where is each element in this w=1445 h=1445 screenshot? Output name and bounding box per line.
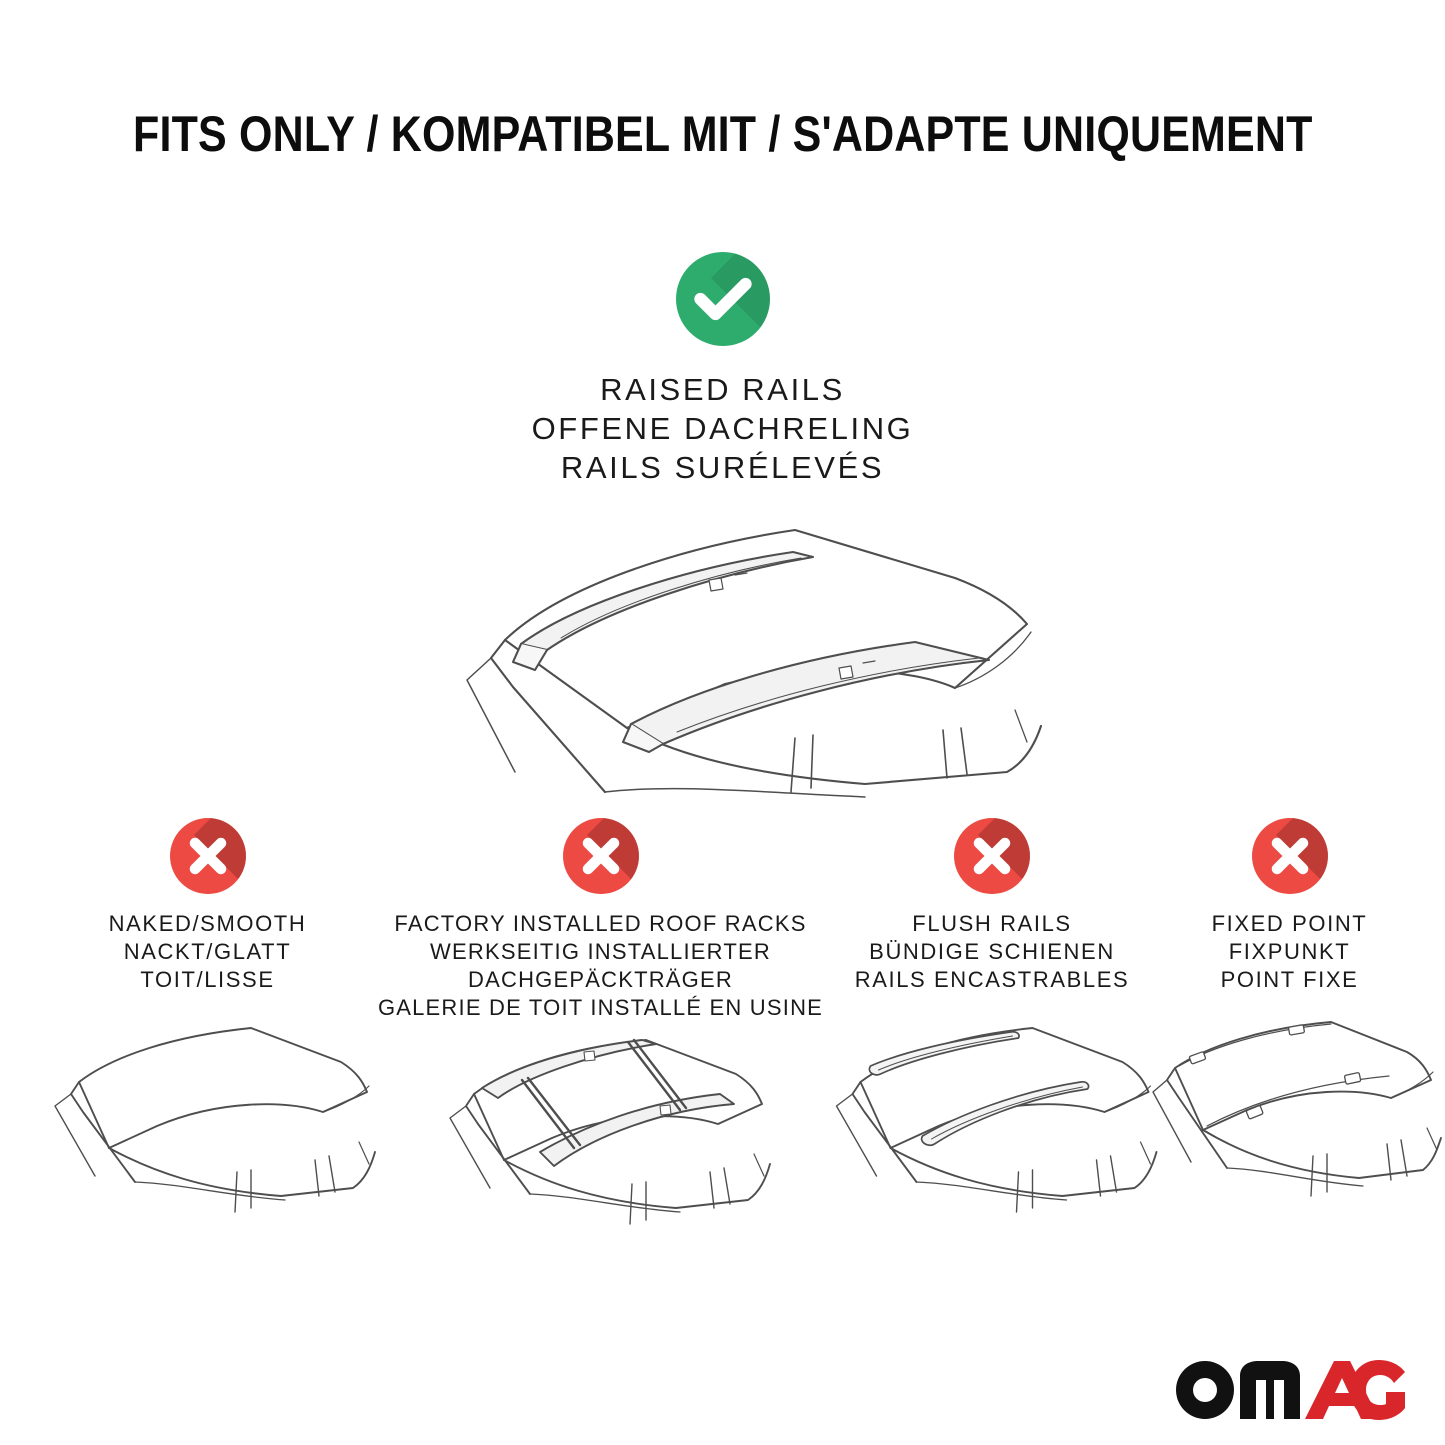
rejected-labels-flush-rails: FLUSH RAILS BÜNDIGE SCHIENEN RAILS ENCAS… bbox=[832, 910, 1152, 994]
rejected-column-flush-rails: FLUSH RAILS BÜNDIGE SCHIENEN RAILS ENCAS… bbox=[832, 818, 1152, 994]
x-circle-icon bbox=[1252, 818, 1328, 894]
x-circle-icon bbox=[170, 818, 246, 894]
car-roof-raised-rails-illustration bbox=[395, 492, 1055, 802]
label-de: BÜNDIGE SCHIENEN bbox=[832, 938, 1152, 966]
x-circle-icon bbox=[954, 818, 1030, 894]
rejected-column-naked-smooth: NAKED/SMOOTH NACKT/GLATT TOIT/LISSE bbox=[45, 818, 370, 994]
label-en: FLUSH RAILS bbox=[832, 910, 1152, 938]
car-roof-fixed-point-drawing bbox=[1135, 1000, 1445, 1225]
label-fr: TOIT/LISSE bbox=[45, 966, 370, 994]
car-roof-flush-rails-drawing bbox=[805, 1000, 1180, 1225]
x-mark-glyph bbox=[170, 818, 246, 894]
title-bar: FITS ONLY / KOMPATIBEL MIT / S'ADAPTE UN… bbox=[0, 104, 1445, 164]
car-roof-raised-rails-drawing bbox=[395, 492, 1055, 802]
x-mark-glyph bbox=[563, 818, 639, 894]
approved-labels: RAISED RAILS OFFENE DACHRELING RAILS SUR… bbox=[0, 370, 1445, 487]
label-de: FIXPUNKT bbox=[1152, 938, 1427, 966]
car-roof-naked-smooth-drawing bbox=[23, 1000, 393, 1225]
approved-label-en: RAISED RAILS bbox=[0, 370, 1445, 409]
page-title: FITS ONLY / KOMPATIBEL MIT / S'ADAPTE UN… bbox=[133, 104, 1313, 164]
x-mark-glyph bbox=[954, 818, 1030, 894]
car-roof-flush-rails-illustration bbox=[805, 1000, 1180, 1225]
approved-label-de: OFFENE DACHRELING bbox=[0, 409, 1445, 448]
omac-logo-mark bbox=[1174, 1358, 1406, 1422]
rejected-column-fixed-point: FIXED POINT FIXPUNKT POINT FIXE bbox=[1152, 818, 1427, 994]
car-roof-naked-smooth-illustration bbox=[23, 1000, 393, 1225]
check-circle-icon bbox=[676, 252, 770, 346]
omac-logo bbox=[1174, 1358, 1406, 1422]
check-mark-glyph bbox=[676, 252, 770, 346]
x-circle-icon bbox=[563, 818, 639, 894]
label-fr: RAILS ENCASTRABLES bbox=[832, 966, 1152, 994]
approved-label-fr: RAILS SURÉLEVÉS bbox=[0, 448, 1445, 487]
label-de-1: WERKSEITIG INSTALLIERTER bbox=[368, 938, 833, 966]
approved-section: RAISED RAILS OFFENE DACHRELING RAILS SUR… bbox=[0, 252, 1445, 487]
label-en: FIXED POINT bbox=[1152, 910, 1427, 938]
car-roof-factory-racks-illustration bbox=[416, 1008, 786, 1240]
label-de-2: DACHGEPÄCKTRÄGER bbox=[368, 966, 833, 994]
rejected-labels-fixed-point: FIXED POINT FIXPUNKT POINT FIXE bbox=[1152, 910, 1427, 994]
label-en: FACTORY INSTALLED ROOF RACKS bbox=[368, 910, 833, 938]
rejected-labels-factory-racks: FACTORY INSTALLED ROOF RACKS WERKSEITIG … bbox=[368, 910, 833, 1022]
rejected-column-factory-racks: FACTORY INSTALLED ROOF RACKS WERKSEITIG … bbox=[368, 818, 833, 1022]
car-roof-factory-racks-drawing bbox=[416, 1008, 786, 1240]
x-mark-glyph bbox=[1252, 818, 1328, 894]
rejected-labels-naked-smooth: NAKED/SMOOTH NACKT/GLATT TOIT/LISSE bbox=[45, 910, 370, 994]
label-fr: POINT FIXE bbox=[1152, 966, 1427, 994]
label-de: NACKT/GLATT bbox=[45, 938, 370, 966]
rejected-section: NAKED/SMOOTH NACKT/GLATT TOIT/LISSE bbox=[0, 818, 1445, 1288]
label-en: NAKED/SMOOTH bbox=[45, 910, 370, 938]
fitment-infographic: FITS ONLY / KOMPATIBEL MIT / S'ADAPTE UN… bbox=[0, 0, 1445, 1445]
car-roof-fixed-point-illustration bbox=[1135, 1000, 1445, 1225]
